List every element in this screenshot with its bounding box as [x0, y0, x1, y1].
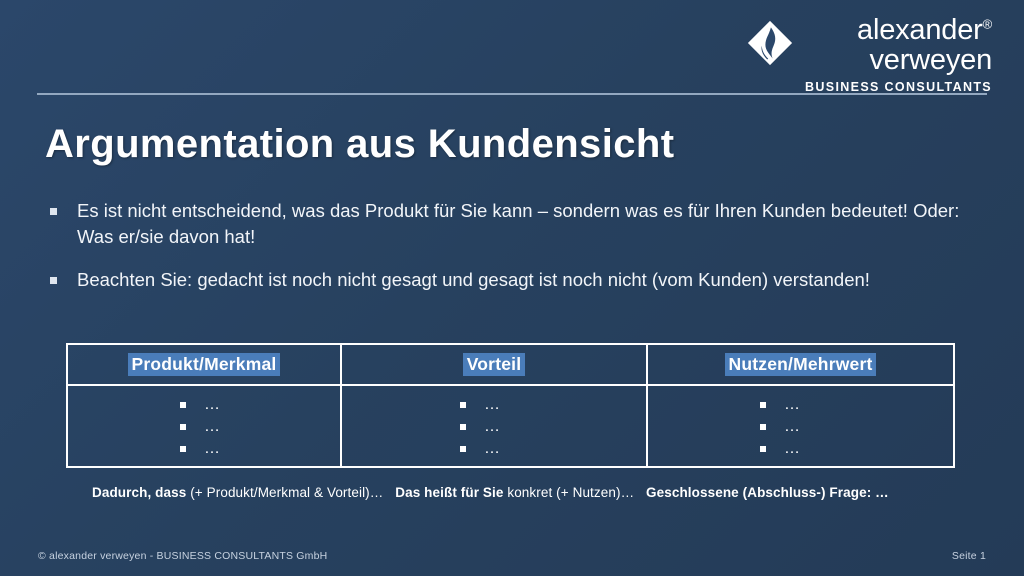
argumentation-table: Produkt/Merkmal Vorteil Nutzen/Mehrwert … — [66, 343, 955, 468]
bullet-list: Es ist nicht entscheidend, was das Produ… — [50, 198, 964, 309]
page-title: Argumentation aus Kundensicht — [45, 122, 674, 167]
caption-part-3-bold: Geschlossene (Abschluss-) Frage: … — [646, 485, 889, 500]
list-item: … — [648, 438, 953, 460]
table-header-row: Produkt/Merkmal Vorteil Nutzen/Mehrwert — [68, 345, 953, 386]
registered-mark-icon: ® — [983, 16, 992, 31]
header-divider — [37, 93, 987, 95]
table-cell-nutzen-mehrwert: … … … — [648, 386, 953, 466]
list-item: … — [648, 394, 953, 416]
brand-name-line-2: verweyen — [869, 46, 992, 76]
square-bullet-icon — [180, 446, 186, 452]
caption-part-2-regular: konkret (+ Nutzen)… — [507, 485, 634, 500]
cell-placeholder-text: … — [204, 441, 221, 457]
brand-wordmark: alexander® verweyen BUSINESS CONSULTANTS — [805, 16, 992, 94]
cell-placeholder-text: … — [784, 441, 801, 457]
table-header-label-vorteil: Vorteil — [463, 353, 526, 376]
cell-placeholder-text: … — [784, 397, 801, 413]
square-bullet-icon — [760, 402, 766, 408]
list-item: … — [648, 416, 953, 438]
square-bullet-icon — [460, 424, 466, 430]
cell-placeholder-text: … — [204, 419, 221, 435]
cell-placeholder-text: … — [784, 419, 801, 435]
brand-tagline: BUSINESS CONSULTANTS — [805, 81, 992, 94]
bullet-text: Beachten Sie: gedacht ist noch nicht ges… — [77, 267, 870, 293]
cell-placeholder-text: … — [484, 441, 501, 457]
caption-part-2-bold: Das heißt für Sie — [395, 485, 503, 500]
square-bullet-icon — [460, 402, 466, 408]
footer-copyright: © alexander verweyen - BUSINESS CONSULTA… — [38, 550, 327, 562]
square-bullet-icon — [180, 402, 186, 408]
caption-part-1-bold: Dadurch, dass — [92, 485, 186, 500]
list-item: Beachten Sie: gedacht ist noch nicht ges… — [50, 267, 964, 293]
square-bullet-icon — [180, 424, 186, 430]
presentation-slide: alexander® verweyen BUSINESS CONSULTANTS… — [0, 0, 1024, 576]
list-item: … — [342, 416, 646, 438]
list-item: … — [342, 438, 646, 460]
footer-page-number: Seite 1 — [952, 550, 986, 562]
table-cell-produkt-merkmal: … … … — [68, 386, 342, 466]
cell-placeholder-text: … — [204, 397, 221, 413]
brand-name-text: alexander — [857, 14, 983, 46]
bullet-text: Es ist nicht entscheidend, was das Produ… — [77, 198, 964, 251]
table-header-cell: Vorteil — [342, 345, 648, 384]
table-header-cell: Produkt/Merkmal — [68, 345, 342, 384]
list-item: … — [342, 394, 646, 416]
list-item: … — [68, 416, 340, 438]
cell-placeholder-text: … — [484, 419, 501, 435]
table-cell-vorteil: … … … — [342, 386, 648, 466]
table-header-label-nutzen-mehrwert: Nutzen/Mehrwert — [725, 353, 877, 376]
brand-name-line-1: alexander® — [857, 16, 992, 46]
brand-logo: alexander® verweyen BUSINESS CONSULTANTS — [747, 16, 992, 94]
table-row: … … … … … … … … … — [68, 386, 953, 466]
square-bullet-icon — [760, 424, 766, 430]
square-bullet-icon — [50, 208, 57, 215]
list-item: … — [68, 438, 340, 460]
caption-part-1-regular: (+ Produkt/Merkmal & Vorteil)… — [190, 485, 383, 500]
square-bullet-icon — [760, 446, 766, 452]
table-header-cell: Nutzen/Mehrwert — [648, 345, 953, 384]
list-item: Es ist nicht entscheidend, was das Produ… — [50, 198, 964, 251]
cell-placeholder-text: … — [484, 397, 501, 413]
list-item: … — [68, 394, 340, 416]
diamond-flame-logo-icon — [747, 20, 793, 66]
table-caption: Dadurch, dass (+ Produkt/Merkmal & Vorte… — [92, 485, 889, 500]
table-header-label-produkt-merkmal: Produkt/Merkmal — [128, 353, 281, 376]
square-bullet-icon — [50, 277, 57, 284]
square-bullet-icon — [460, 446, 466, 452]
